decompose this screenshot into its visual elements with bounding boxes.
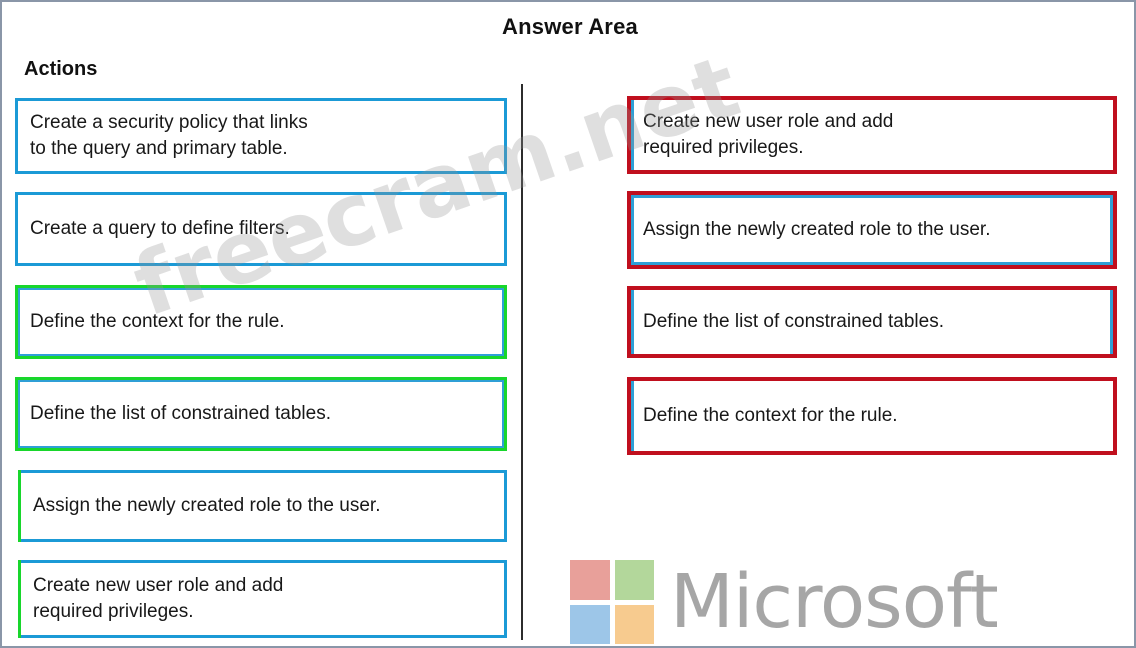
answer-item-2-inner-right-edge: [1110, 195, 1113, 265]
answer-item-2[interactable]: Assign the newly created role to the use…: [627, 191, 1117, 269]
answer-item-4-label: Define the context for the rule.: [631, 403, 904, 429]
action-item-4[interactable]: Define the list of constrained tables.: [15, 377, 507, 451]
answer-item-2-inner-bottom-edge: [631, 262, 1113, 265]
yellow-square: [615, 605, 655, 645]
action-item-2-label: Create a query to define filters.: [18, 216, 296, 242]
action-item-6-label: Create new user role and add required pr…: [21, 573, 289, 625]
microsoft-logo-squares: [570, 560, 654, 644]
microsoft-logo: Microsoft: [570, 560, 998, 644]
page-title: Answer Area: [2, 14, 1136, 40]
action-item-2[interactable]: Create a query to define filters.: [15, 192, 507, 266]
green-square: [615, 560, 655, 600]
action-item-3-label: Define the context for the rule.: [18, 309, 291, 335]
microsoft-wordmark: Microsoft: [670, 565, 998, 639]
actions-column-heading: Actions: [24, 58, 97, 81]
action-item-5[interactable]: Assign the newly created role to the use…: [18, 470, 507, 542]
red-square: [570, 560, 610, 600]
answer-item-1[interactable]: Create new user role and add required pr…: [627, 96, 1117, 174]
action-item-5-label: Assign the newly created role to the use…: [21, 493, 386, 519]
column-divider: [521, 84, 523, 640]
answer-item-3[interactable]: Define the list of constrained tables.: [627, 286, 1117, 358]
answer-item-2-label: Assign the newly created role to the use…: [631, 217, 996, 243]
action-item-3[interactable]: Define the context for the rule.: [15, 285, 507, 359]
action-item-1[interactable]: Create a security policy that links to t…: [15, 98, 507, 174]
action-item-6[interactable]: Create new user role and add required pr…: [18, 560, 507, 638]
action-item-1-label: Create a security policy that links to t…: [18, 110, 314, 162]
blue-square: [570, 605, 610, 645]
answer-area-screen: Answer Area Actions Create a security po…: [0, 0, 1136, 648]
answer-item-4[interactable]: Define the context for the rule.: [627, 377, 1117, 455]
action-item-4-label: Define the list of constrained tables.: [18, 401, 337, 427]
answer-item-3-label: Define the list of constrained tables.: [631, 309, 950, 335]
answer-item-3-inner-right-edge: [1110, 290, 1113, 354]
answer-item-1-label: Create new user role and add required pr…: [631, 109, 899, 161]
